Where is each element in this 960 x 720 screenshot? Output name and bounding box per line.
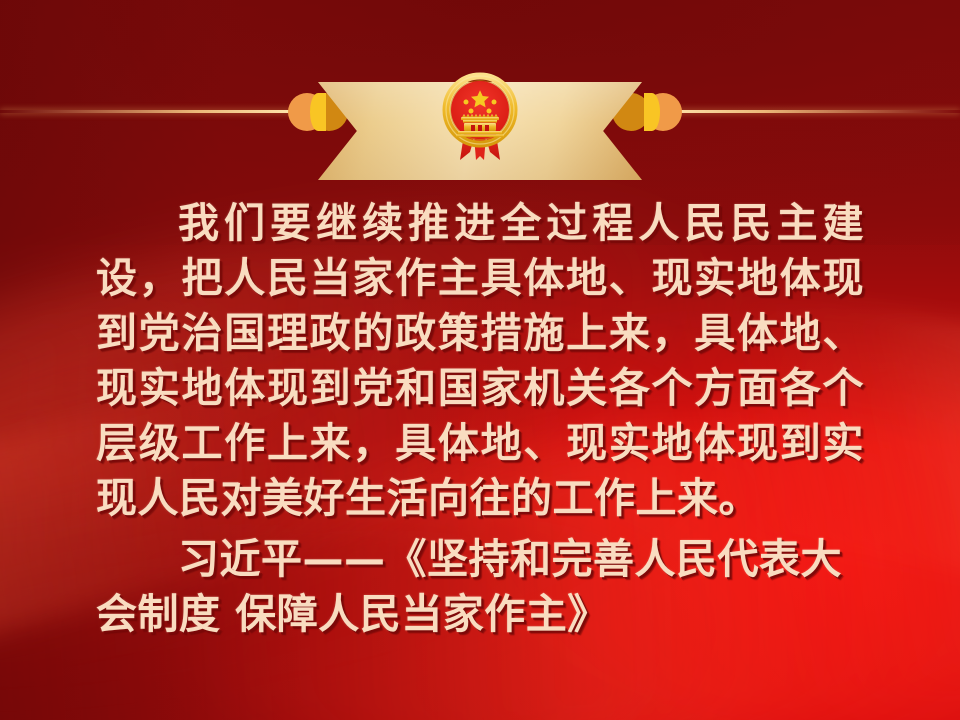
circle-overlap-icon [644, 93, 660, 131]
quote-block: 我们要继续推进全过程人民民主建设，把人民当家作主具体地、现实地体现到党治国理政的… [0, 196, 960, 642]
header-ornament [0, 0, 960, 172]
quote-attribution: 习近平——《坚持和完善人民代表大会制度 保障人民当家作主》 [96, 532, 864, 642]
circle-overlap-icon [310, 93, 326, 131]
quote-text: 我们要继续推进全过程人民民主建设，把人民当家作主具体地、现实地体现到党治国理政的… [96, 196, 864, 526]
poster-canvas: 我们要继续推进全过程人民民主建设，把人民当家作主具体地、现实地体现到党治国理政的… [0, 0, 960, 720]
gold-streak-left-icon [0, 110, 316, 113]
national-emblem-icon [440, 64, 520, 168]
